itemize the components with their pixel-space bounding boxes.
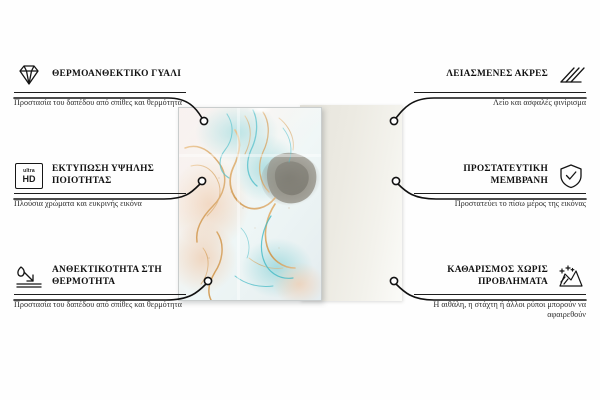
feature-high-quality-print: ultra HD ΕΚΤΥΠΩΣΗ ΥΨΗΛΗΣ ΠΟΙΟΤΗΤΑΣ Πλούσ… [14,163,186,209]
feature-title: ΚΑΘΑΡΙΣΜΟΣ ΧΩΡΙΣ ΠΡΟΒΛΗΜΑΤΑ [414,265,548,288]
easy-clean-sparkle-icon [556,264,586,290]
feature-subtitle: Πλούσια χρώματα και ευκρινής εικόνα [14,199,186,209]
divider-rule [14,92,186,93]
shield-check-icon [556,163,586,189]
feature-heat-resistant-glass: ΘΕΡΜΟΑΝΘΕΚΤΙΚΟ ΓΥΑΛΙ Προστασία του δαπέδ… [14,62,186,108]
feature-polished-edges: ΛΕΙΑΣΜΕΝΕΣ ΑΚΡΕΣ Λείο και ασφαλές φινίρι… [414,62,586,108]
feature-subtitle: Προστατεύει το πίσω μέρος της εικόνας [414,199,586,209]
ultra-hd-badge-top: ultra [23,169,35,174]
divider-rule [14,193,186,194]
feature-protective-membrane: ΠΡΟΣΤΑΤΕΥΤΙΚΗ ΜΕΜΒΡΑΝΗ Προστατεύει το πί… [414,163,586,209]
divider-rule [414,294,586,295]
feature-easy-cleaning: ΚΑΘΑΡΙΣΜΟΣ ΧΩΡΙΣ ΠΡΟΒΛΗΜΑΤΑ Η αιθάλη, η … [414,264,586,321]
product-illustration [178,107,402,301]
feature-subtitle: Λείο και ασφαλές φινίρισμα [414,98,586,108]
feature-title: ΛΕΙΑΣΜΕΝΕΣ ΑΚΡΕΣ [446,69,548,81]
feature-subtitle: Προστασία του δαπέδου από σπίθες και θερ… [14,98,186,108]
flame-heat-resistance-icon [14,264,44,290]
glass-panel-front [178,107,322,301]
diamond-icon [14,62,44,88]
ultra-hd-icon: ultra HD [14,163,44,189]
marble-ink-artwork [179,108,321,300]
feature-title: ΕΚΤΥΠΩΣΗ ΥΨΗΛΗΣ ΠΟΙΟΤΗΤΑΣ [52,164,186,187]
feature-subtitle: Η αιθάλη, η στάχτη ή άλλοι ρύποι μπορούν… [414,300,586,321]
ultra-hd-badge-bottom: HD [23,175,36,184]
polished-edges-icon [556,62,586,88]
feature-title: ΘΕΡΜΟΑΝΘΕΚΤΙΚΟ ΓΥΑΛΙ [52,69,181,81]
divider-rule [414,193,586,194]
infographic-canvas: ΘΕΡΜΟΑΝΘΕΚΤΙΚΟ ΓΥΑΛΙ Προστασία του δαπέδ… [0,0,600,400]
feature-heat-durability: ΑΝΘΕΚΤΙΚΟΤΗΤΑ ΣΤΗ ΘΕΡΜΟΤΗΤΑ Προστασία το… [14,264,186,310]
feature-title: ΠΡΟΣΤΑΤΕΥΤΙΚΗ ΜΕΜΒΡΑΝΗ [414,164,548,187]
feature-title: ΑΝΘΕΚΤΙΚΟΤΗΤΑ ΣΤΗ ΘΕΡΜΟΤΗΤΑ [52,265,186,288]
feature-subtitle: Προστασία του δαπέδου από σπίθες και θερ… [14,300,186,310]
divider-rule [14,294,186,295]
divider-rule [414,92,586,93]
